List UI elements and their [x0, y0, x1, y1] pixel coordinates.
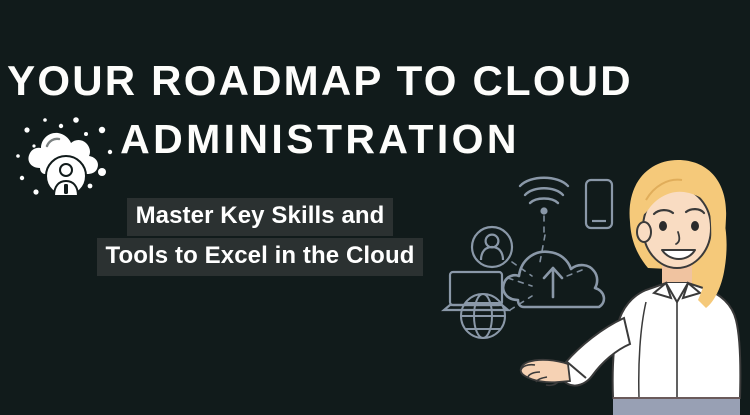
user-avatar-icon [472, 227, 512, 267]
cloud-administration-banner: YOUR ROADMAP TO CLOUD ADMINISTRATION Mas… [0, 0, 750, 415]
diagram-connectors [508, 216, 582, 310]
subtitle-line-1: Master Key Skills and [127, 198, 394, 236]
globe-icon [461, 294, 505, 338]
subtitle-row-1: Master Key Skills and [60, 198, 460, 236]
skirt [613, 398, 740, 415]
title-line-1: YOUR ROADMAP TO CLOUD [0, 52, 640, 110]
cloud-upload-icon [503, 252, 604, 307]
subtitle-row-2: Tools to Excel in the Cloud [60, 238, 460, 276]
gesturing-hand [521, 360, 570, 386]
wifi-icon [520, 178, 568, 215]
woman-presenting-cloud-diagram [440, 150, 750, 415]
page-title: YOUR ROADMAP TO CLOUD ADMINISTRATION [0, 52, 640, 168]
title-line-2: ADMINISTRATION [0, 110, 640, 168]
subtitle: Master Key Skills and Tools to Excel in … [60, 198, 460, 276]
smartphone-icon [586, 180, 612, 228]
subtitle-line-2: Tools to Excel in the Cloud [97, 238, 424, 276]
